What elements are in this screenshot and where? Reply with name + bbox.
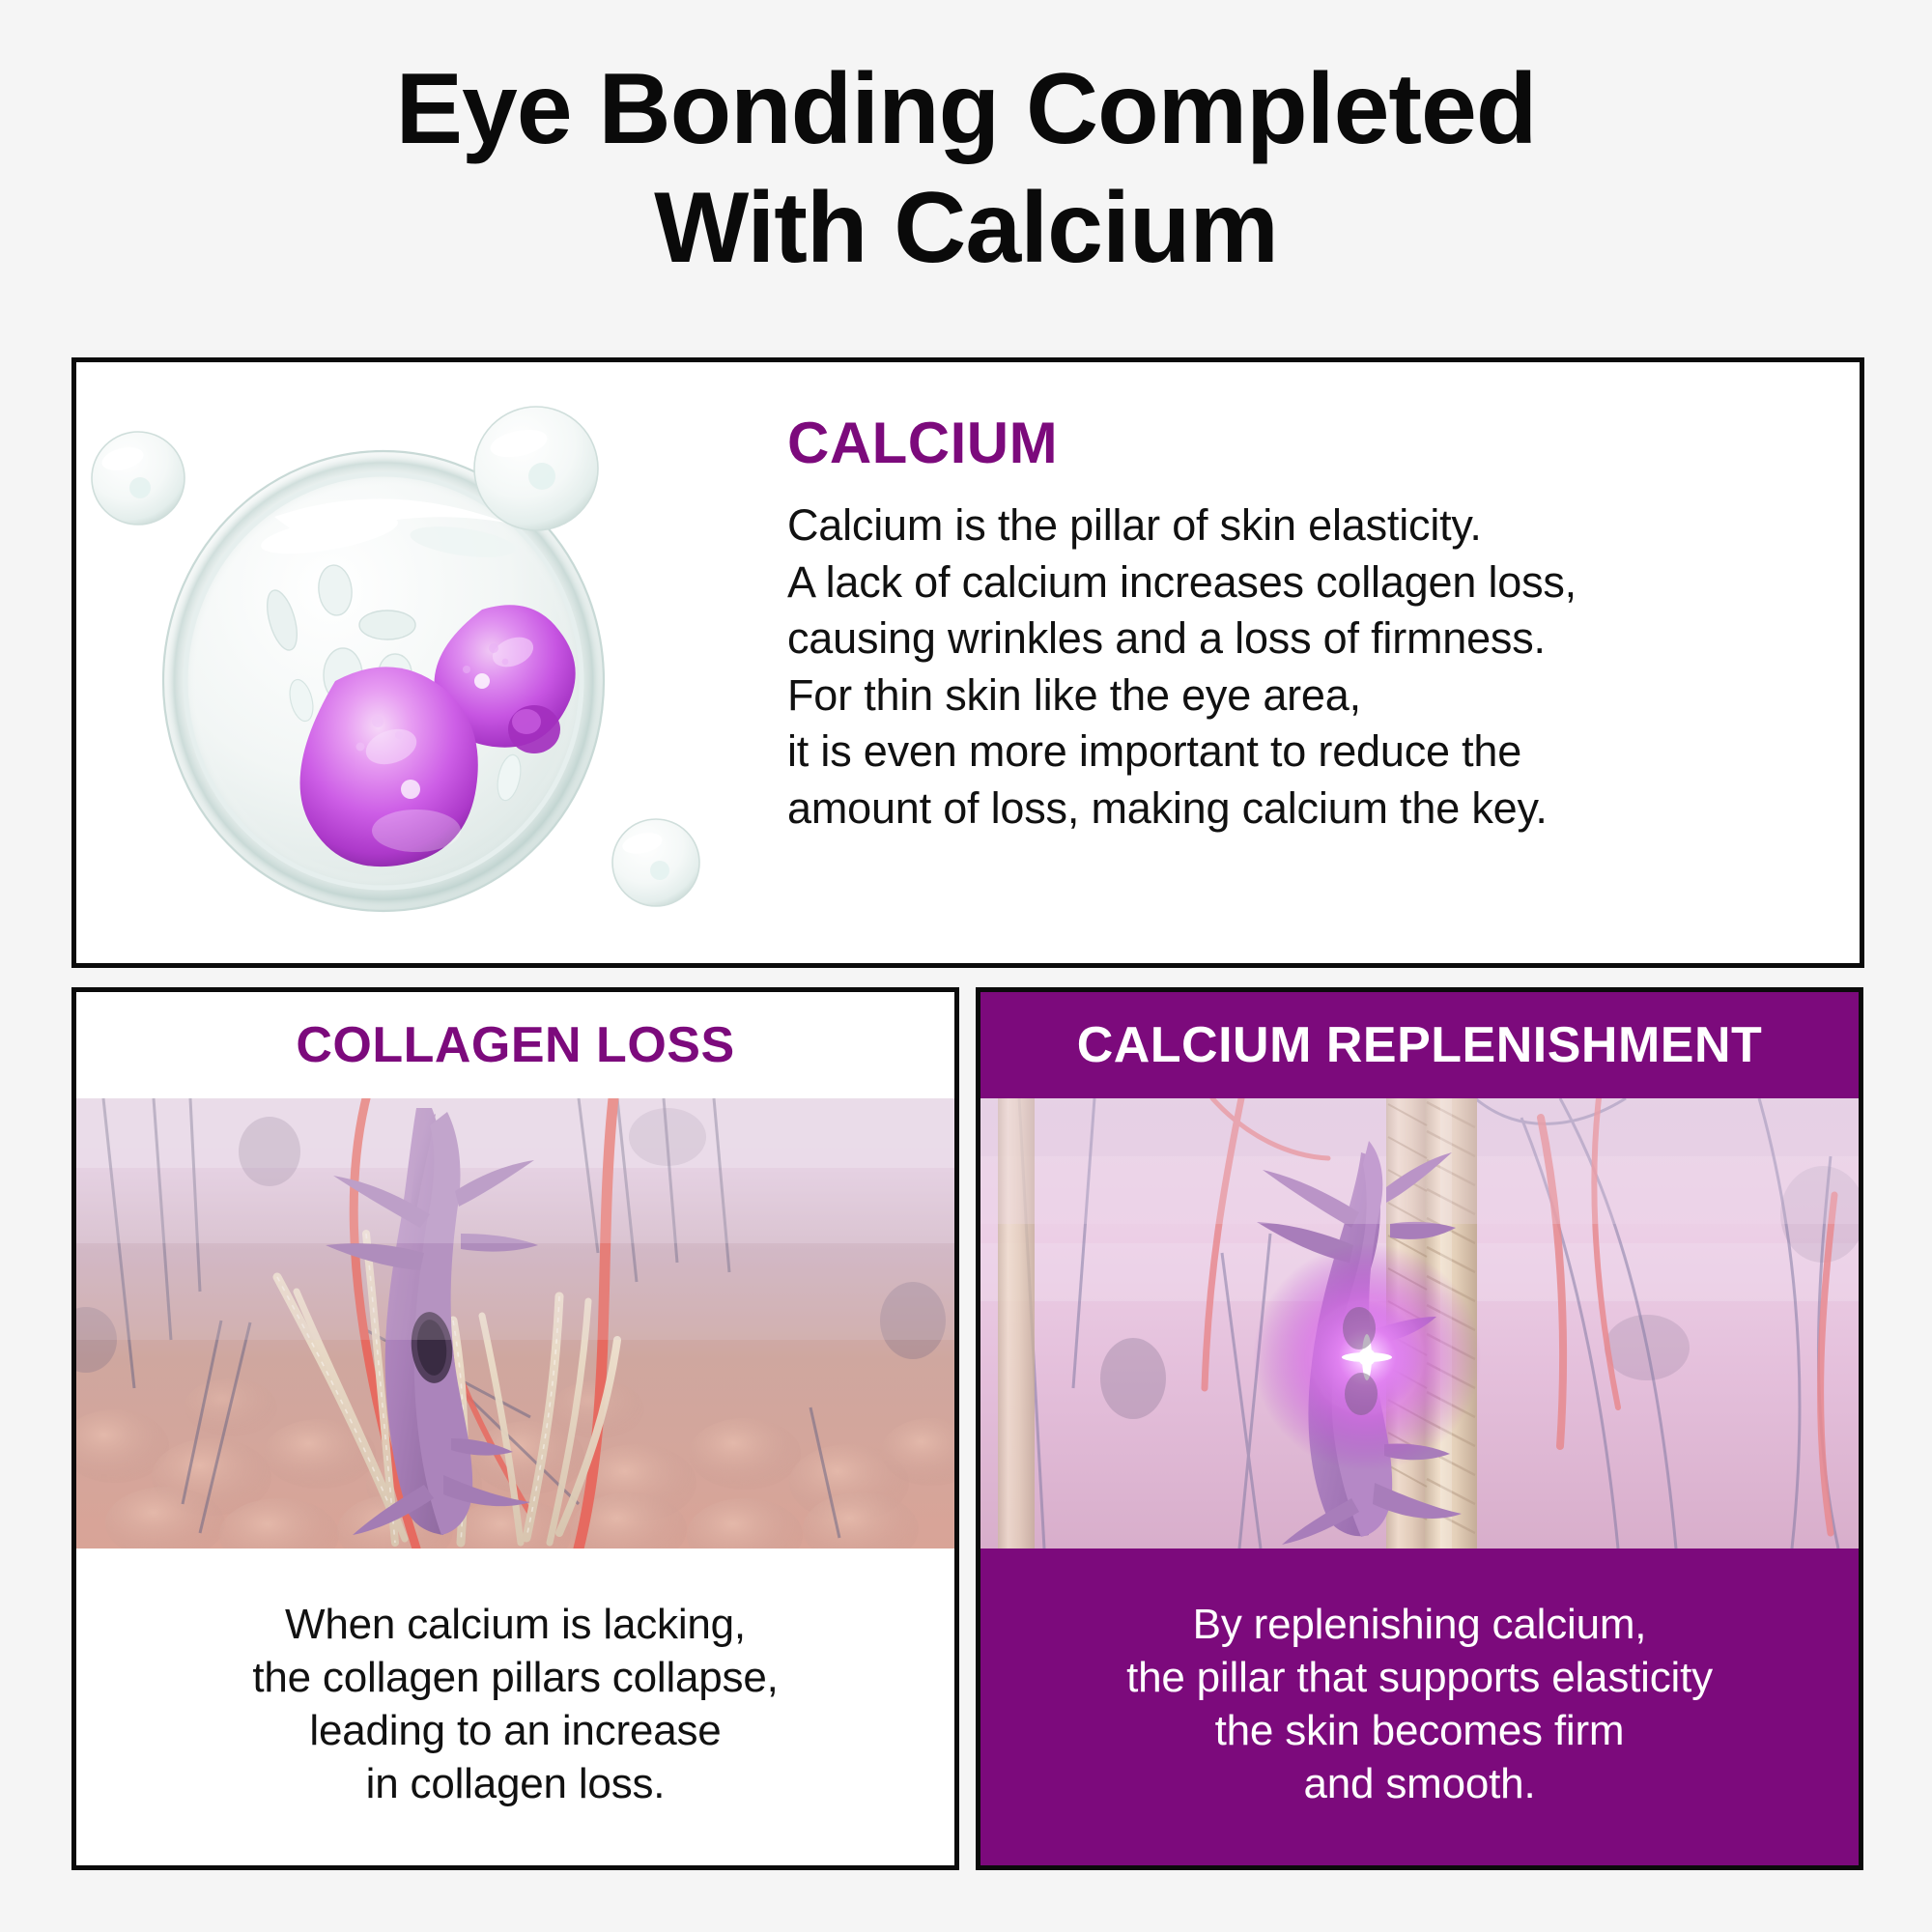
calcium-replenishment-caption: By replenishing calcium, the pillar that… bbox=[980, 1548, 1859, 1865]
comparison-row: COLLAGEN LOSS bbox=[71, 987, 1864, 1870]
calcium-body-line-3: causing wrinkles and a loss of firmness. bbox=[787, 611, 1821, 668]
calcium-replenishment-caption-line-4: and smooth. bbox=[1304, 1757, 1536, 1810]
calcium-body-line-4: For thin skin like the eye area, bbox=[787, 668, 1821, 724]
calcium-body: Calcium is the pillar of skin elasticity… bbox=[787, 497, 1821, 837]
page-title: Eye Bonding Completed With Calcium bbox=[0, 50, 1932, 287]
infographic-page: Eye Bonding Completed With Calcium bbox=[0, 0, 1932, 1932]
calcium-molecule-bubble-illustration bbox=[76, 362, 743, 963]
collagen-loss-caption-line-1: When calcium is lacking, bbox=[285, 1598, 746, 1651]
calcium-body-line-2: A lack of calcium increases collagen los… bbox=[787, 554, 1821, 611]
calcium-replenishment-caption-line-3: the skin becomes firm bbox=[1215, 1704, 1625, 1757]
calcium-body-line-5: it is even more important to reduce the bbox=[787, 724, 1821, 781]
collagen-loss-header: COLLAGEN LOSS bbox=[76, 992, 954, 1098]
page-title-line-1: Eye Bonding Completed bbox=[0, 50, 1932, 169]
page-title-line-2: With Calcium bbox=[0, 169, 1932, 288]
calcium-body-line-6: amount of loss, making calcium the key. bbox=[787, 781, 1821, 838]
calcium-text-block: CALCIUM Calcium is the pillar of skin el… bbox=[743, 362, 1860, 963]
collagen-loss-caption: When calcium is lacking, the collagen pi… bbox=[76, 1548, 954, 1865]
fibroblast-collagen-loss-illustration bbox=[76, 1098, 954, 1548]
collagen-loss-caption-line-3: leading to an increase bbox=[309, 1704, 721, 1757]
molecule-bubble-graphic bbox=[76, 362, 743, 963]
calcium-info-panel: CALCIUM Calcium is the pillar of skin el… bbox=[71, 357, 1864, 968]
calcium-replenishment-card: CALCIUM REPLENISHMENT bbox=[976, 987, 1863, 1870]
collagen-loss-caption-line-2: the collagen pillars collapse, bbox=[252, 1651, 778, 1704]
calcium-body-line-1: Calcium is the pillar of skin elasticity… bbox=[787, 497, 1821, 554]
collagen-loss-graphic bbox=[76, 1098, 954, 1548]
calcium-replenishment-caption-line-2: the pillar that supports elasticity bbox=[1126, 1651, 1713, 1704]
calcium-heading: CALCIUM bbox=[787, 414, 1821, 472]
collagen-loss-card: COLLAGEN LOSS bbox=[71, 987, 959, 1870]
calcium-replenishment-header: CALCIUM REPLENISHMENT bbox=[980, 992, 1859, 1098]
calcium-replenishment-caption-line-1: By replenishing calcium, bbox=[1193, 1598, 1647, 1651]
fibroblast-calcium-replenishment-illustration bbox=[980, 1098, 1859, 1548]
collagen-loss-caption-line-4: in collagen loss. bbox=[366, 1757, 666, 1810]
calcium-replenishment-graphic bbox=[980, 1098, 1859, 1548]
